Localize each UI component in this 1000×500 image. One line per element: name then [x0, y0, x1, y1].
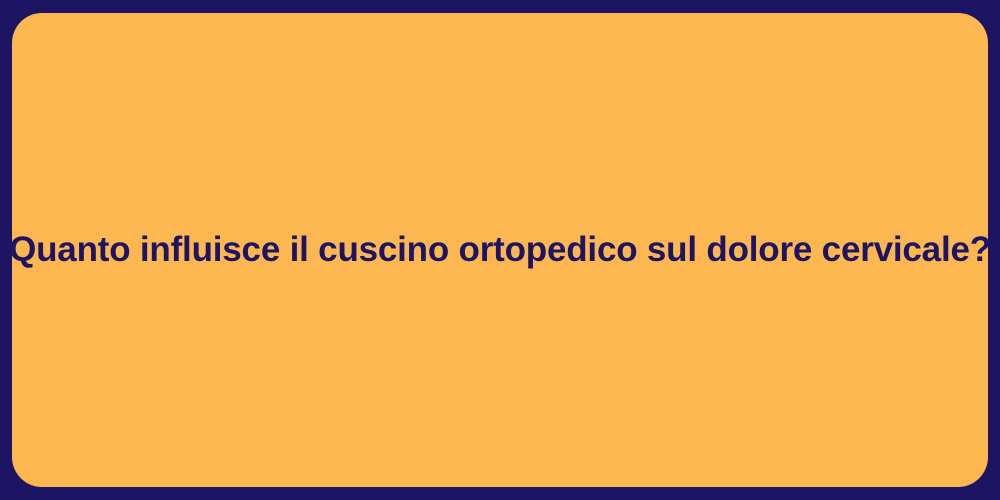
page-frame: Quanto influisce il cuscino ortopedico s… [0, 0, 1000, 500]
card-content: Quanto influisce il cuscino ortopedico s… [12, 229, 988, 272]
headline-card: Quanto influisce il cuscino ortopedico s… [12, 13, 988, 487]
page-title: Quanto influisce il cuscino ortopedico s… [12, 229, 988, 272]
